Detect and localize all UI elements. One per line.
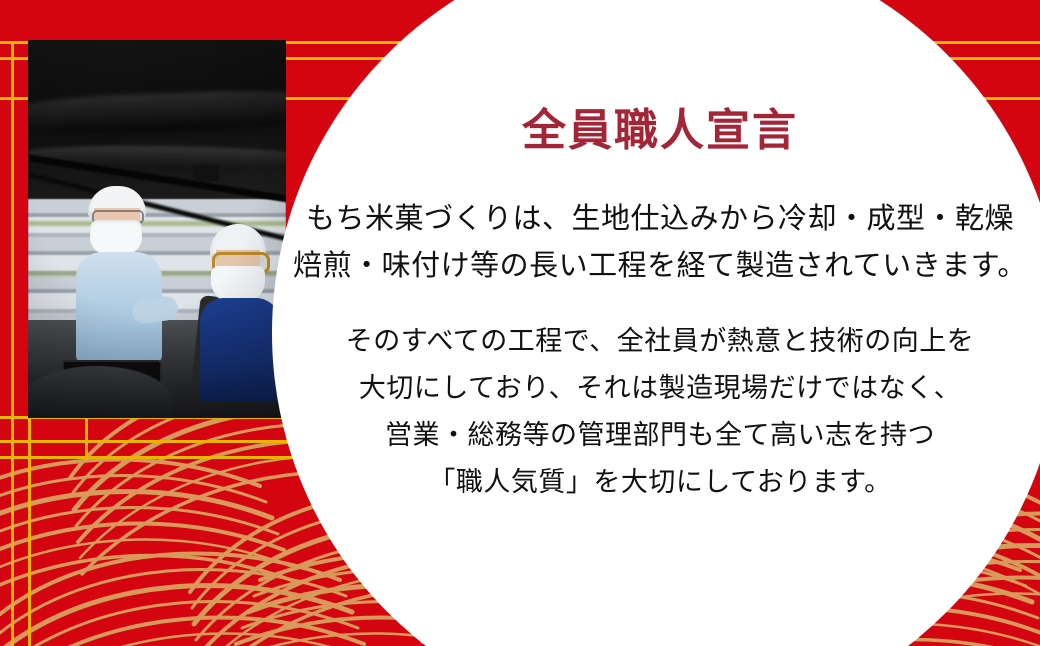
paragraph-spacer	[290, 290, 1030, 318]
paragraph-2: そのすべての工程で、全社員が熱意と技術の向上を 大切にしており、それは製造現場だ…	[290, 318, 1030, 506]
page-title: 全員職人宣言	[290, 94, 1030, 158]
poster-canvas: 全員職人宣言 もち米菓づくりは、生地仕込みから冷却・成型・乾燥 焙煎・味付け等の…	[0, 0, 1040, 646]
paragraph-2-line-3: 営業・総務等の管理部門も全て高い志を持つ	[290, 412, 1030, 459]
paragraph-2-line-4: 「職人気質」を大切にしております。	[290, 459, 1030, 506]
frame-line-top-v1	[11, 41, 14, 646]
paragraph-1: もち米菓づくりは、生地仕込みから冷却・成型・乾燥 焙煎・味付け等の長い工程を経て…	[290, 196, 1030, 290]
paragraph-2-line-1: そのすべての工程で、全社員が熱意と技術の向上を	[290, 318, 1030, 365]
factory-workers-photo	[28, 40, 286, 418]
paragraph-2-line-2: 大切にしており、それは製造現場だけではなく、	[290, 365, 1030, 412]
photo-vignette	[28, 40, 286, 418]
body-copy: もち米菓づくりは、生地仕込みから冷却・成型・乾燥 焙煎・味付け等の長い工程を経て…	[290, 196, 1030, 506]
text-content-area: 全員職人宣言 もち米菓づくりは、生地仕込みから冷却・成型・乾燥 焙煎・味付け等の…	[290, 0, 1030, 646]
paragraph-1-line-1: もち米菓づくりは、生地仕込みから冷却・成型・乾燥	[290, 196, 1030, 243]
paragraph-1-line-2: 焙煎・味付け等の長い工程を経て製造されていきます。	[290, 243, 1030, 290]
